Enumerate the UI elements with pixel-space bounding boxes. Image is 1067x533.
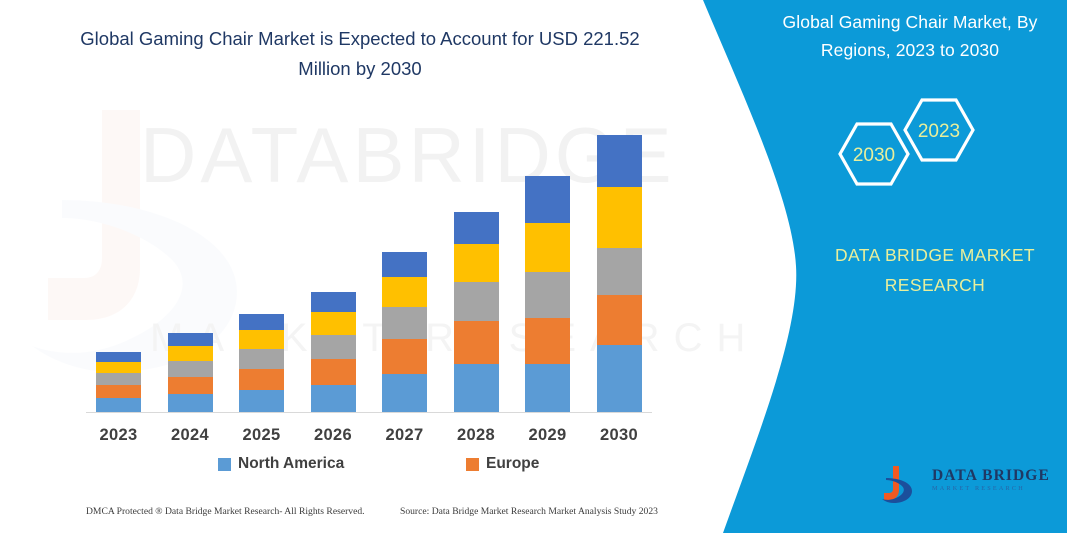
legend-item[interactable]: Europe xyxy=(466,455,539,473)
bar-segment xyxy=(454,282,499,321)
x-axis-label-2026: 2026 xyxy=(293,426,373,445)
bar-segment xyxy=(311,312,356,335)
bar-segment xyxy=(311,335,356,359)
bar-segment xyxy=(525,318,570,364)
data-bridge-b-icon xyxy=(880,464,926,506)
bar-segment xyxy=(454,244,499,282)
x-axis-label-2027: 2027 xyxy=(365,426,445,445)
infographic-root: Global Gaming Chair Market, By Regions, … xyxy=(0,0,1067,533)
x-axis-label-2030: 2030 xyxy=(579,426,659,445)
bar-segment xyxy=(382,307,427,339)
bar-segment xyxy=(239,330,284,349)
bar-2026 xyxy=(311,0,356,412)
bar-segment xyxy=(525,223,570,272)
panel-brand-text: DATA BRIDGE MARKET RESEARCH xyxy=(790,240,1067,300)
bar-2029 xyxy=(525,0,570,412)
bar-segment xyxy=(597,135,642,187)
bar-segment xyxy=(239,369,284,390)
bar-segment xyxy=(311,385,356,412)
logo-name: DATA BRIDGE xyxy=(932,468,1062,484)
logo-text-block: DATA BRIDGE MARKET RESEARCH xyxy=(932,468,1062,494)
x-axis-label-2025: 2025 xyxy=(222,426,302,445)
bar-segment xyxy=(168,377,213,394)
bar-segment xyxy=(311,292,356,312)
bar-2030 xyxy=(597,0,642,412)
panel-brand-line2: RESEARCH xyxy=(790,270,1067,300)
bar-segment xyxy=(382,374,427,412)
footer: DMCA Protected ® Data Bridge Market Rese… xyxy=(0,506,720,528)
bar-2028 xyxy=(454,0,499,412)
bar-segment xyxy=(454,212,499,244)
bar-segment xyxy=(525,364,570,412)
bars-layer xyxy=(0,0,720,412)
panel-title: Global Gaming Chair Market, By Regions, … xyxy=(770,8,1050,64)
bar-segment xyxy=(96,373,141,385)
bar-2023 xyxy=(96,0,141,412)
x-axis-label-2024: 2024 xyxy=(150,426,230,445)
bar-segment xyxy=(454,321,499,364)
bar-segment xyxy=(239,390,284,412)
bar-segment xyxy=(239,314,284,330)
bar-segment xyxy=(239,349,284,369)
x-axis-label-2028: 2028 xyxy=(436,426,516,445)
bar-segment xyxy=(597,345,642,412)
x-axis-label-2029: 2029 xyxy=(508,426,588,445)
bar-segment xyxy=(168,394,213,412)
legend-label: North America xyxy=(238,455,344,473)
bar-segment xyxy=(168,361,213,377)
chart-legend: North AmericaEurope xyxy=(0,455,700,479)
footer-right-text: Source: Data Bridge Market Research Mark… xyxy=(400,506,658,517)
bar-segment xyxy=(597,295,642,345)
bar-2025 xyxy=(239,0,284,412)
bar-segment xyxy=(525,176,570,223)
stacked-bar-chart: 20232024202520262027202820292030 xyxy=(0,0,720,533)
svg-text:2030: 2030 xyxy=(853,145,895,166)
bar-segment xyxy=(382,252,427,277)
bar-segment xyxy=(454,364,499,412)
bar-segment xyxy=(382,339,427,374)
data-bridge-logo: DATA BRIDGE MARKET RESEARCH xyxy=(880,462,1055,510)
bar-segment xyxy=(597,187,642,248)
svg-text:2023: 2023 xyxy=(918,121,960,142)
x-axis-label-2023: 2023 xyxy=(79,426,159,445)
bar-segment xyxy=(96,385,141,398)
bar-segment xyxy=(96,398,141,412)
legend-label: Europe xyxy=(486,455,539,473)
legend-item[interactable]: North America xyxy=(218,455,344,473)
bar-2024 xyxy=(168,0,213,412)
bar-segment xyxy=(597,248,642,295)
bar-segment xyxy=(311,359,356,385)
bar-segment xyxy=(382,277,427,307)
footer-left-text: DMCA Protected ® Data Bridge Market Rese… xyxy=(86,506,365,517)
legend-swatch-icon xyxy=(218,458,231,471)
logo-subtitle: MARKET RESEARCH xyxy=(932,484,1062,494)
panel-brand-line1: DATA BRIDGE MARKET xyxy=(790,240,1067,270)
bar-segment xyxy=(96,362,141,373)
hexagon-years-group: 2030 2023 xyxy=(815,92,1005,217)
bar-segment xyxy=(168,333,213,346)
bar-2027 xyxy=(382,0,427,412)
x-axis-line xyxy=(86,412,652,413)
bar-segment xyxy=(168,346,213,361)
x-axis-labels: 20232024202520262027202820292030 xyxy=(0,426,720,454)
bar-segment xyxy=(525,272,570,318)
bar-segment xyxy=(96,352,141,362)
legend-swatch-icon xyxy=(466,458,479,471)
